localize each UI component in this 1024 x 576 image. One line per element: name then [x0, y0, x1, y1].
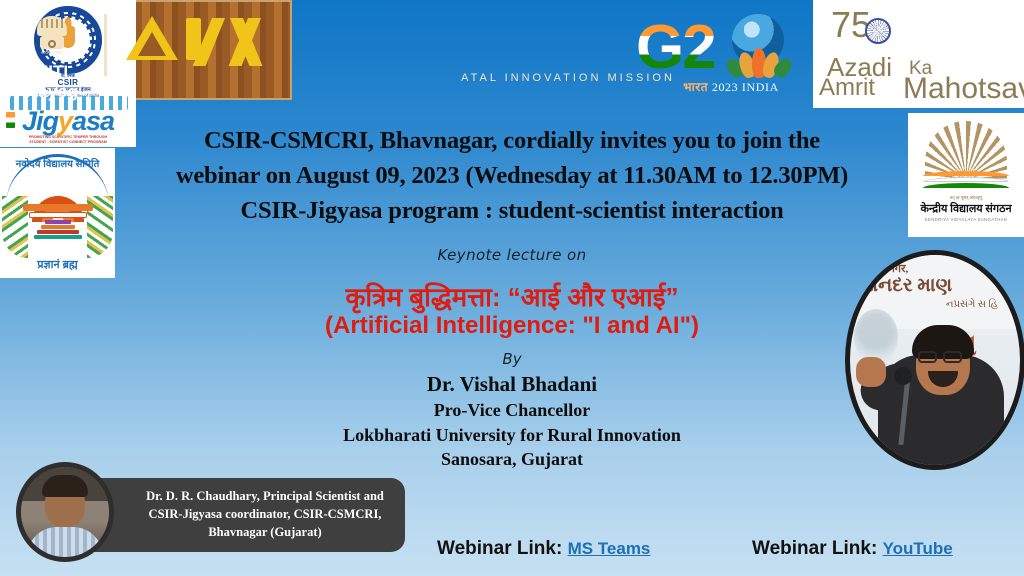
open-book-icon: [923, 171, 1009, 193]
ms-teams-link[interactable]: MS Teams: [568, 539, 651, 558]
kvs-hindi-name: केन्द्रीय विद्यालय संगठन: [908, 201, 1024, 216]
jigyasa-word-part1: Jig: [22, 106, 58, 136]
speaker-fist: [856, 357, 886, 387]
backdrop-text-3: નપ્રસંગે સ હિ: [946, 299, 998, 310]
azadi-ka-amrit-mahotsav-logo-card: 75 Azadi Ka Amrit Mahotsav: [813, 0, 1024, 108]
kendriya-vidyalaya-sangathan-logo-card: तत् त्वं पूषन् अपावृणु केन्द्रीय विद्याल…: [908, 113, 1024, 237]
g20-wordmark: G2: [636, 12, 715, 83]
jigyasa-subtitle-line2: STUDENT - SCIENTIST CONNECT PROGRAM: [0, 140, 136, 145]
nvs-band-top: [23, 204, 93, 211]
speaker-location: Sanosara, Gujarat: [0, 447, 1024, 471]
backdrop-text-2: માનદર માણ: [860, 275, 952, 297]
g20-subtitle: भारत 2023 INDIA: [656, 78, 806, 95]
azadi-word-mahotsav: Mahotsav: [903, 72, 1024, 106]
nvs-band-bottom: [29, 212, 87, 218]
jigyasa-logo: Jigyasa PROMOTING SCIENTIFIC TEMPER THRO…: [0, 96, 136, 146]
speaker-photo: भावनगर, માનદર માણ નપ્રસંગે સ હિ નો પ્ર: [845, 250, 1024, 470]
page-title: CSIR-CSMCRI, Bhavnagar, cordially invite…: [118, 124, 906, 228]
emblem-motto-text: सत्यमेव जयते: [30, 50, 74, 56]
coordinator-photo: [16, 462, 114, 562]
eyeglasses-icon: [918, 351, 968, 363]
headline-line-1: CSIR-CSMCRI, Bhavnagar, cordially invite…: [118, 124, 906, 159]
headline-line-3: CSIR-Jigyasa program : student-scientist…: [118, 194, 906, 229]
backdrop-text-1: भावनगर,: [872, 261, 908, 276]
niti-aayog-label: NITI Aayog: [12, 62, 92, 102]
jigyasa-subtitle: PROMOTING SCIENTIFIC TEMPER THROUGH STUD…: [0, 135, 136, 146]
coordinator-caption: Dr. D. R. Chaudhary, Principal Scientist…: [120, 487, 410, 541]
g20-year: 2023: [712, 80, 738, 94]
azadi-word-amrit: Amrit: [819, 74, 875, 102]
coordinator-line-1: Dr. D. R. Chaudhary, Principal Scientist…: [120, 487, 410, 505]
coordinator-line-2: CSIR-Jigyasa coordinator, CSIR-CSMCRI,: [120, 505, 410, 523]
jigyasa-wordmark: Jigyasa: [0, 106, 136, 137]
coordinator-hair: [42, 475, 88, 497]
g20-hindi: भारत: [683, 80, 708, 94]
youtube-link[interactable]: YouTube: [883, 539, 953, 558]
webinar-link-youtube: Webinar Link: YouTube: [752, 538, 953, 560]
headline-line-2: webinar on August 09, 2023 (Wednesday at…: [118, 159, 906, 194]
jigyasa-word-part3: asa: [72, 106, 114, 136]
emblem-lions-icon: [37, 16, 67, 36]
webinar-poster: वैज्ञानिक CSIR भारत का नवाचार इंजन The I…: [0, 0, 1024, 576]
coordinator-line-3: Bhavnagar (Gujarat): [120, 523, 410, 541]
tricolour-flag-icon: [889, 8, 1017, 52]
emblem-base-icon: [40, 36, 64, 49]
webinar-link-right-label: Webinar Link:: [752, 538, 877, 559]
nvs-arc-text: नवोदय विद्यालय समिति: [0, 156, 115, 170]
kvs-english-name: KENDRIYA VIDYALAYA SANGATHAN: [908, 217, 1024, 222]
atal-innovation-mission-banner: सत्यमेव जयते NITI Aayog ATAL INNOVATION …: [0, 0, 292, 100]
g20-logo: G2 भारत 2023 INDIA: [630, 8, 820, 108]
lotus-icon: [728, 44, 790, 78]
g20-country: INDIA: [742, 80, 779, 94]
webinar-link-msteams: Webinar Link: MS Teams: [437, 538, 650, 560]
aim-divider: [104, 14, 107, 76]
aim-triangle-icon: [126, 16, 178, 60]
books-icon: [34, 219, 82, 243]
ashoka-emblem-icon: सत्यमेव जयते: [30, 14, 74, 62]
microphone-icon: [894, 367, 912, 385]
aim-mark-icon: [126, 12, 276, 68]
ashoka-chakra-icon: [865, 18, 891, 44]
webinar-link-left-label: Webinar Link:: [437, 538, 562, 559]
jigyasa-word-part2: y: [58, 106, 72, 136]
aim-x-icon: [212, 18, 268, 60]
